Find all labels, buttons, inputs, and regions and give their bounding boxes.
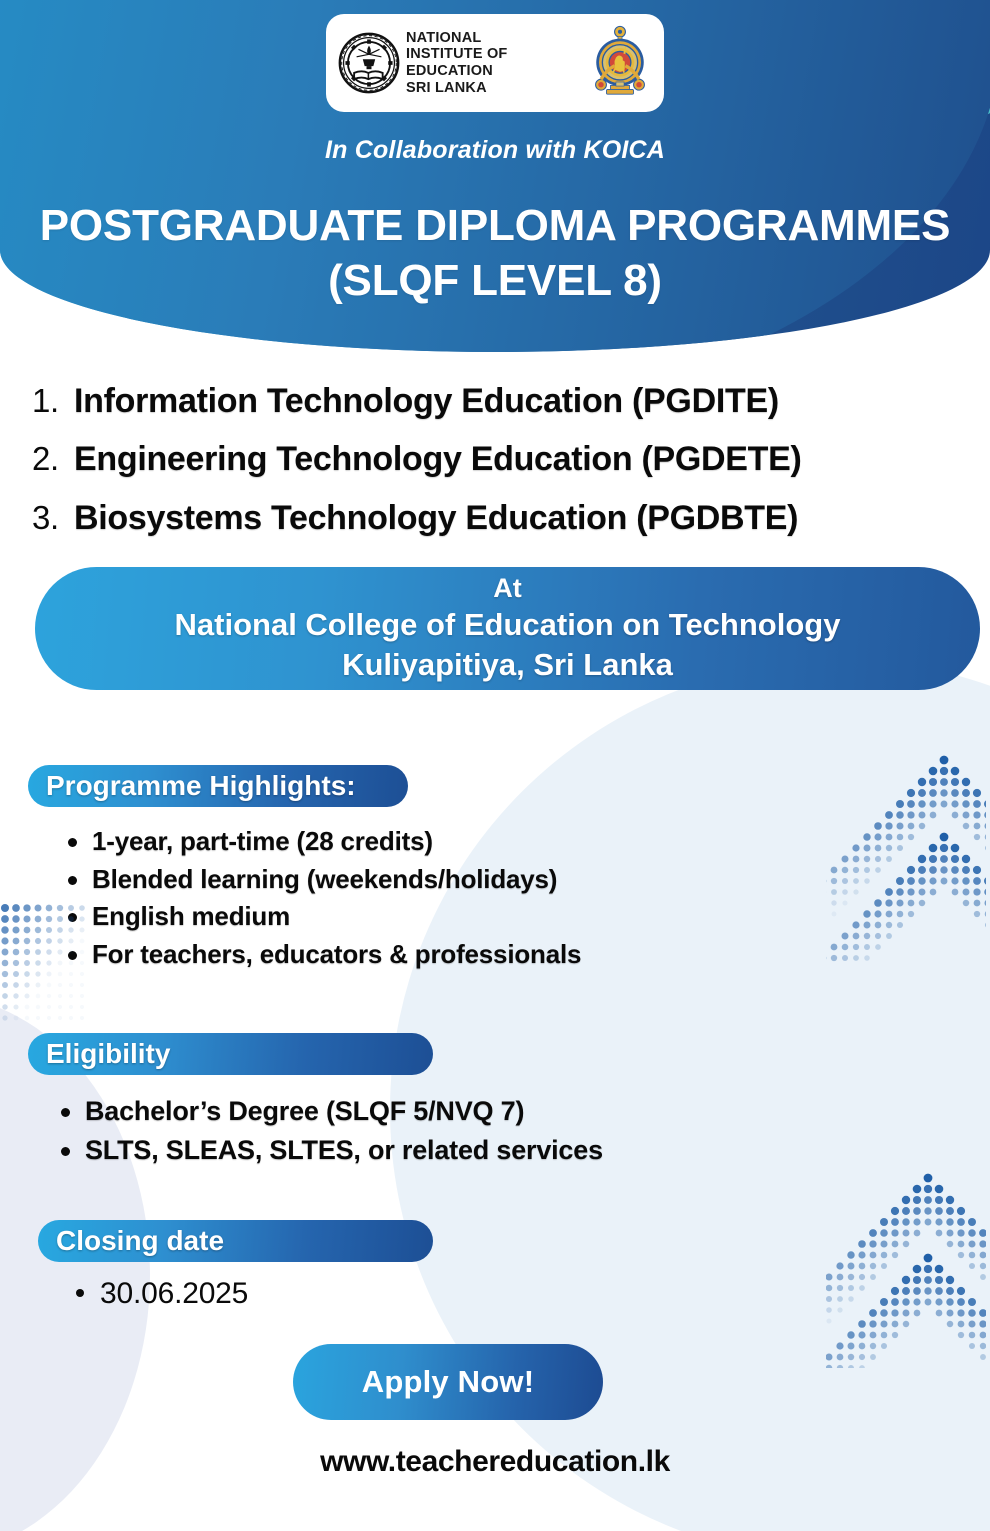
list-item: For teachers, educators & professionals <box>62 936 581 974</box>
highlights-list: 1-year, part-time (28 credits) Blended l… <box>62 823 581 974</box>
list-item: English medium <box>62 898 581 936</box>
poster-root: NATIONAL INSTITUTE OF EDUCATION SRI LANK… <box>0 0 990 1531</box>
section-heading-highlights: Programme Highlights: <box>28 765 408 807</box>
list-item: Bachelor’s Degree (SLQF 5/NVQ 7) <box>55 1092 603 1131</box>
page-title: POSTGRADUATE DIPLOMA PROGRAMMES (SLQF LE… <box>0 198 990 308</box>
section-heading-closing-date: Closing date <box>38 1220 433 1262</box>
location-place: Kuliyapitiya, Sri Lanka <box>342 645 673 685</box>
nie-name: NATIONAL INSTITUTE OF EDUCATION SRI LANK… <box>406 30 507 96</box>
eligibility-list: Bachelor’s Degree (SLQF 5/NVQ 7) SLTS, S… <box>55 1092 603 1170</box>
sri-lanka-national-emblem-icon <box>586 25 654 101</box>
section-heading-label: Closing date <box>56 1225 224 1257</box>
nie-emblem-icon <box>338 32 400 94</box>
chevron-dots-icon <box>826 1168 986 1368</box>
section-heading-label: Eligibility <box>46 1038 170 1070</box>
list-item: 3. Biosystems Technology Education (PGDB… <box>32 489 962 547</box>
list-item: 2. Engineering Technology Education (PGD… <box>32 430 962 488</box>
location-at-label: At <box>493 572 522 605</box>
website-url[interactable]: www.teachereducation.lk <box>0 1445 990 1479</box>
section-heading-label: Programme Highlights: <box>46 770 356 802</box>
nie-name-line-4: SRI LANKA <box>406 80 507 97</box>
programme-number: 1. <box>32 373 74 430</box>
programme-number: 3. <box>32 490 74 547</box>
page-title-line-2: (SLQF LEVEL 8) <box>0 253 990 308</box>
programme-name: Engineering Technology Education (PGDETE… <box>74 430 802 488</box>
section-heading-eligibility: Eligibility <box>28 1033 433 1075</box>
chevron-dots-icon <box>826 752 986 962</box>
nie-name-line-1: NATIONAL <box>406 30 507 47</box>
logo-lockup: NATIONAL INSTITUTE OF EDUCATION SRI LANK… <box>326 14 664 112</box>
closing-date-list: 30.06.2025 <box>72 1272 248 1316</box>
collaboration-text: In Collaboration with KOICA <box>0 136 990 165</box>
list-item: SLTS, SLEAS, SLTES, or related services <box>55 1131 603 1170</box>
nie-name-line-2: INSTITUTE OF <box>406 46 507 63</box>
list-item: 1-year, part-time (28 credits) <box>62 823 581 861</box>
programme-name: Information Technology Education (PGDITE… <box>74 372 779 430</box>
programme-name: Biosystems Technology Education (PGDBTE) <box>74 489 798 547</box>
nie-name-line-3: EDUCATION <box>406 63 507 80</box>
apply-now-button[interactable]: Apply Now! <box>293 1344 603 1420</box>
location-institution: National College of Education on Technol… <box>175 605 841 645</box>
list-item: 30.06.2025 <box>72 1272 248 1316</box>
page-title-line-1: POSTGRADUATE DIPLOMA PROGRAMMES <box>40 201 950 250</box>
list-item: Blended learning (weekends/holidays) <box>62 861 581 899</box>
location-banner: At National College of Education on Tech… <box>35 567 980 690</box>
poster-header: NATIONAL INSTITUTE OF EDUCATION SRI LANK… <box>0 0 990 352</box>
programme-list: 1. Information Technology Education (PGD… <box>32 372 962 547</box>
programme-number: 2. <box>32 431 74 488</box>
list-item: 1. Information Technology Education (PGD… <box>32 372 962 430</box>
